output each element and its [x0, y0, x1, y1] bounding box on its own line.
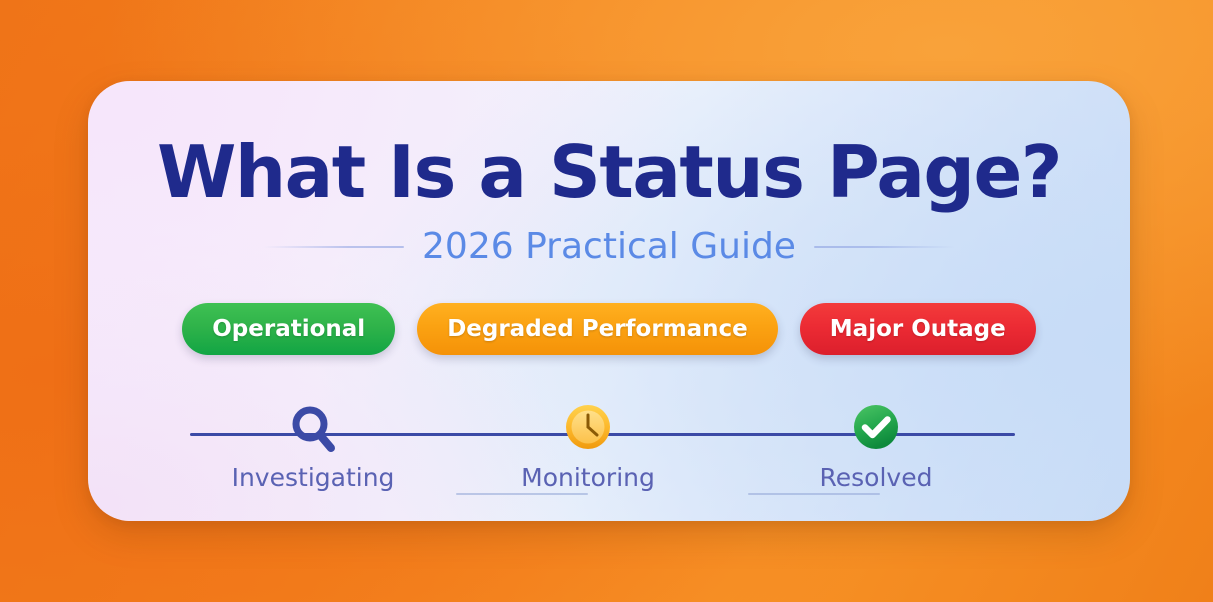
timeline-label-monitoring: Monitoring [521, 465, 655, 490]
badge-major-outage[interactable]: Major Outage [800, 303, 1036, 355]
status-badge-group: Operational Degraded Performance Major O… [88, 303, 1130, 355]
badge-degraded-performance[interactable]: Degraded Performance [417, 303, 778, 355]
page-subtitle: 2026 Practical Guide [422, 229, 796, 265]
timeline-label-rule-1 [456, 493, 588, 495]
page-title: What Is a Status Page? [88, 136, 1130, 208]
timeline-step-resolved[interactable]: Resolved [816, 399, 936, 490]
timeline-step-investigating[interactable]: Investigating [253, 399, 373, 490]
timeline-step-monitoring[interactable]: Monitoring [528, 399, 648, 490]
clock-icon [558, 399, 618, 459]
check-circle-icon [846, 399, 906, 459]
status-page-card: What Is a Status Page? 2026 Practical Gu… [88, 81, 1130, 521]
timeline-label-rule-2 [748, 493, 880, 495]
badge-operational[interactable]: Operational [182, 303, 395, 355]
timeline-label-resolved: Resolved [820, 465, 933, 490]
incident-timeline: Investigating [88, 381, 1130, 501]
subtitle-rule-left [264, 246, 404, 248]
timeline-label-investigating: Investigating [232, 465, 395, 490]
page-background: What Is a Status Page? 2026 Practical Gu… [0, 0, 1213, 602]
subtitle-row: 2026 Practical Guide [88, 229, 1130, 265]
magnifier-icon [283, 399, 343, 459]
subtitle-rule-right [814, 246, 954, 248]
